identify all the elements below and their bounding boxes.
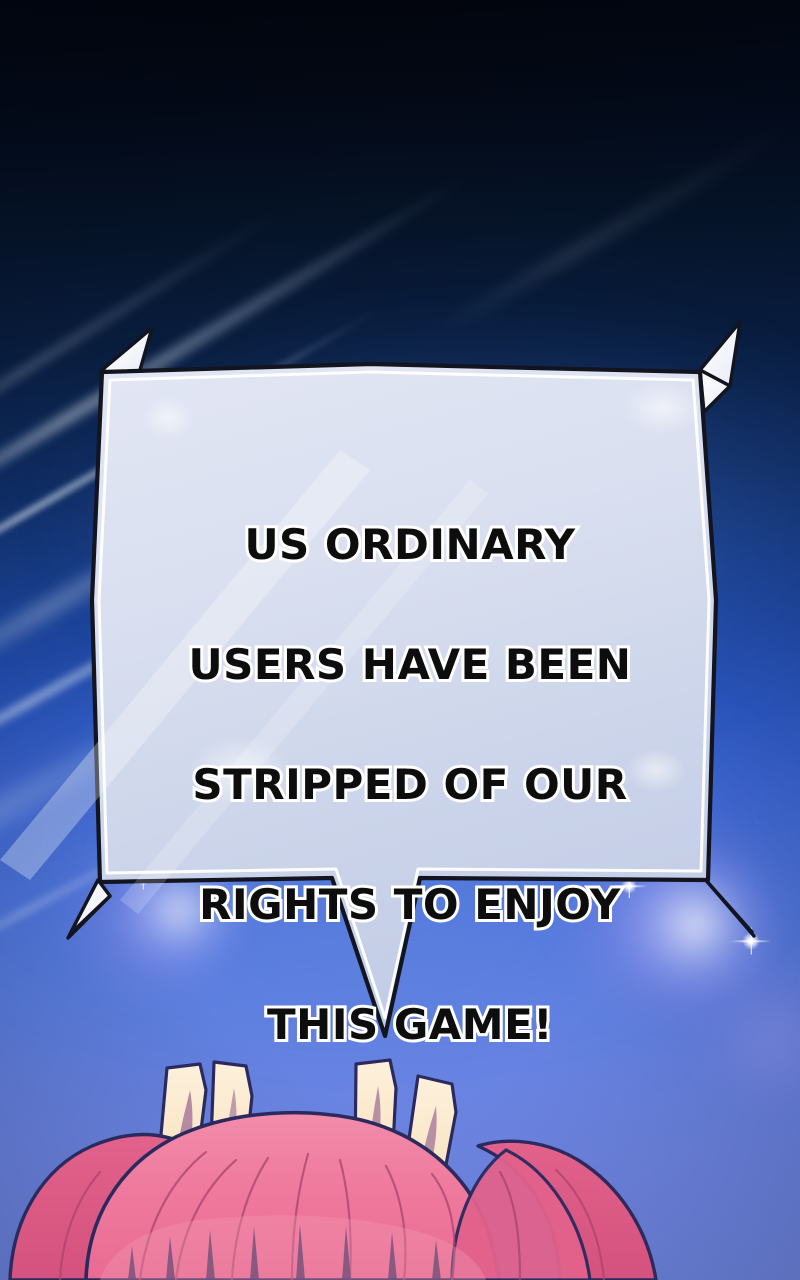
speech-bubble: [40, 300, 760, 1040]
comic-panel: US ORDINARY USERS HAVE BEEN STRIPPED OF …: [0, 0, 800, 1280]
character-pink-haired-girl: [0, 1050, 800, 1280]
bubble-light-spot: [142, 396, 194, 440]
bubble-light-spot: [626, 748, 686, 792]
bubble-light-spot: [622, 382, 702, 434]
